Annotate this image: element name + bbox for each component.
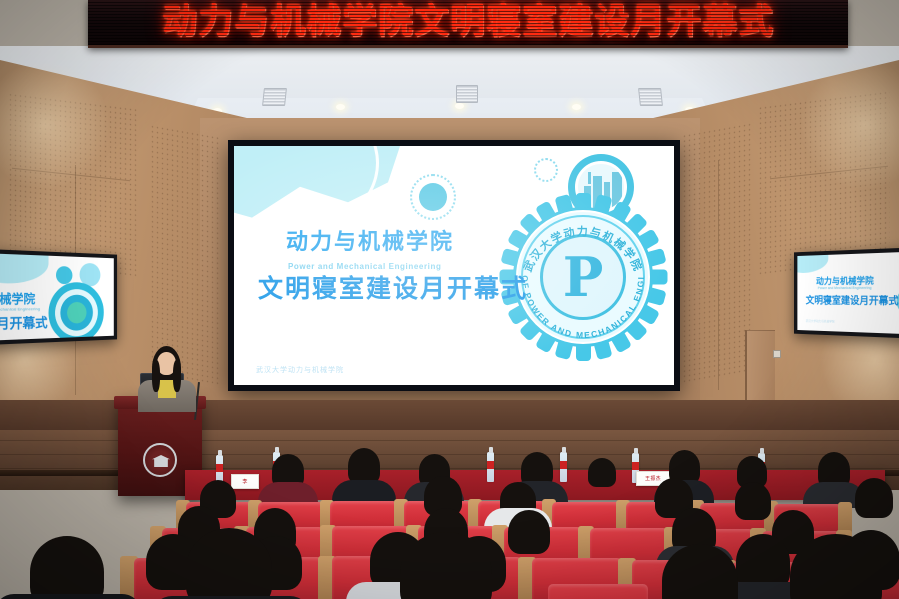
audience-shoulders	[0, 594, 142, 599]
acoustic-panel	[682, 122, 752, 384]
audience-head	[855, 478, 893, 518]
side-monitor-left: 机械学院 Power and Mechanical Engineering 设月…	[0, 249, 117, 345]
led-banner: 动力与机械学院文明寝室建设月开幕式	[88, 0, 848, 48]
speaker-hair-left	[152, 360, 160, 392]
slide-title-cn: 动力与机械学院	[286, 232, 454, 254]
mini-school-emblem	[49, 282, 104, 341]
led-banner-text: 动力与机械学院文明寝室建设月开幕式	[162, 5, 774, 40]
side-monitor-right: 动力与机械学院 Power and Mechanical Engineering…	[794, 247, 899, 338]
ceiling-vent	[262, 88, 287, 106]
seat[interactable]	[548, 584, 648, 599]
panel-seam	[718, 160, 719, 390]
side-monitor-left-slide: 机械学院 Power and Mechanical Engineering 设月…	[0, 253, 114, 340]
slide-decor-arc	[234, 146, 379, 238]
water-bottle[interactable]	[487, 452, 494, 482]
ceiling-vent	[456, 85, 478, 103]
wall-switch-plate[interactable]	[773, 350, 781, 358]
slide-subtitle-en: Power and Mechanical Engineering	[288, 262, 441, 271]
side-monitor-right-slide: 动力与机械学院 Power and Mechanical Engineering…	[797, 252, 899, 334]
downlight	[455, 103, 464, 109]
side-monitor-right-subtitle: Power and Mechanical Engineering	[818, 286, 872, 290]
audience-head	[348, 448, 380, 484]
side-monitor-left-heading: 设月开幕式	[0, 312, 48, 333]
mini-decor-blob	[0, 253, 49, 283]
audience-head	[735, 482, 771, 520]
name-card: 李	[231, 474, 259, 489]
downlight	[572, 104, 581, 110]
gear-solid-icon	[419, 183, 447, 211]
projection-screen: P 武汉大学动力与机械学院 SCHOOL OF POWER AND MECHAN…	[228, 140, 680, 391]
slide-footer-cn: 武汉大学动力与机械学院	[256, 365, 344, 375]
slide-heading-cn: 文明寝室建设月开幕式	[258, 276, 528, 301]
side-monitor-left-subtitle: Power and Mechanical Engineering	[0, 306, 40, 312]
podium-university-seal	[143, 443, 177, 477]
side-monitor-right-heading: 文明寝室建设月开幕式	[806, 292, 899, 308]
gear-ring-icon	[534, 158, 558, 182]
emblem-monogram: P	[563, 250, 604, 304]
audience-head	[30, 536, 104, 599]
downlight	[336, 104, 345, 110]
auditorium-scene: P 武汉大学动力与机械学院 SCHOOL OF POWER AND MECHAN…	[0, 0, 899, 599]
audience-head	[588, 458, 616, 487]
speaker-hair-right	[173, 360, 181, 392]
presentation-slide: P 武汉大学动力与机械学院 SCHOOL OF POWER AND MECHAN…	[234, 146, 674, 385]
mini-gear-icon	[56, 266, 72, 284]
side-monitor-left-title: 机械学院	[0, 290, 35, 308]
audience-head	[508, 510, 550, 554]
mini-decor-blob	[797, 252, 828, 274]
side-monitor-right-footer: 武汉大学动力与机械学院	[806, 319, 835, 324]
ceiling-vent	[638, 88, 663, 106]
water-bottle[interactable]	[560, 452, 567, 482]
